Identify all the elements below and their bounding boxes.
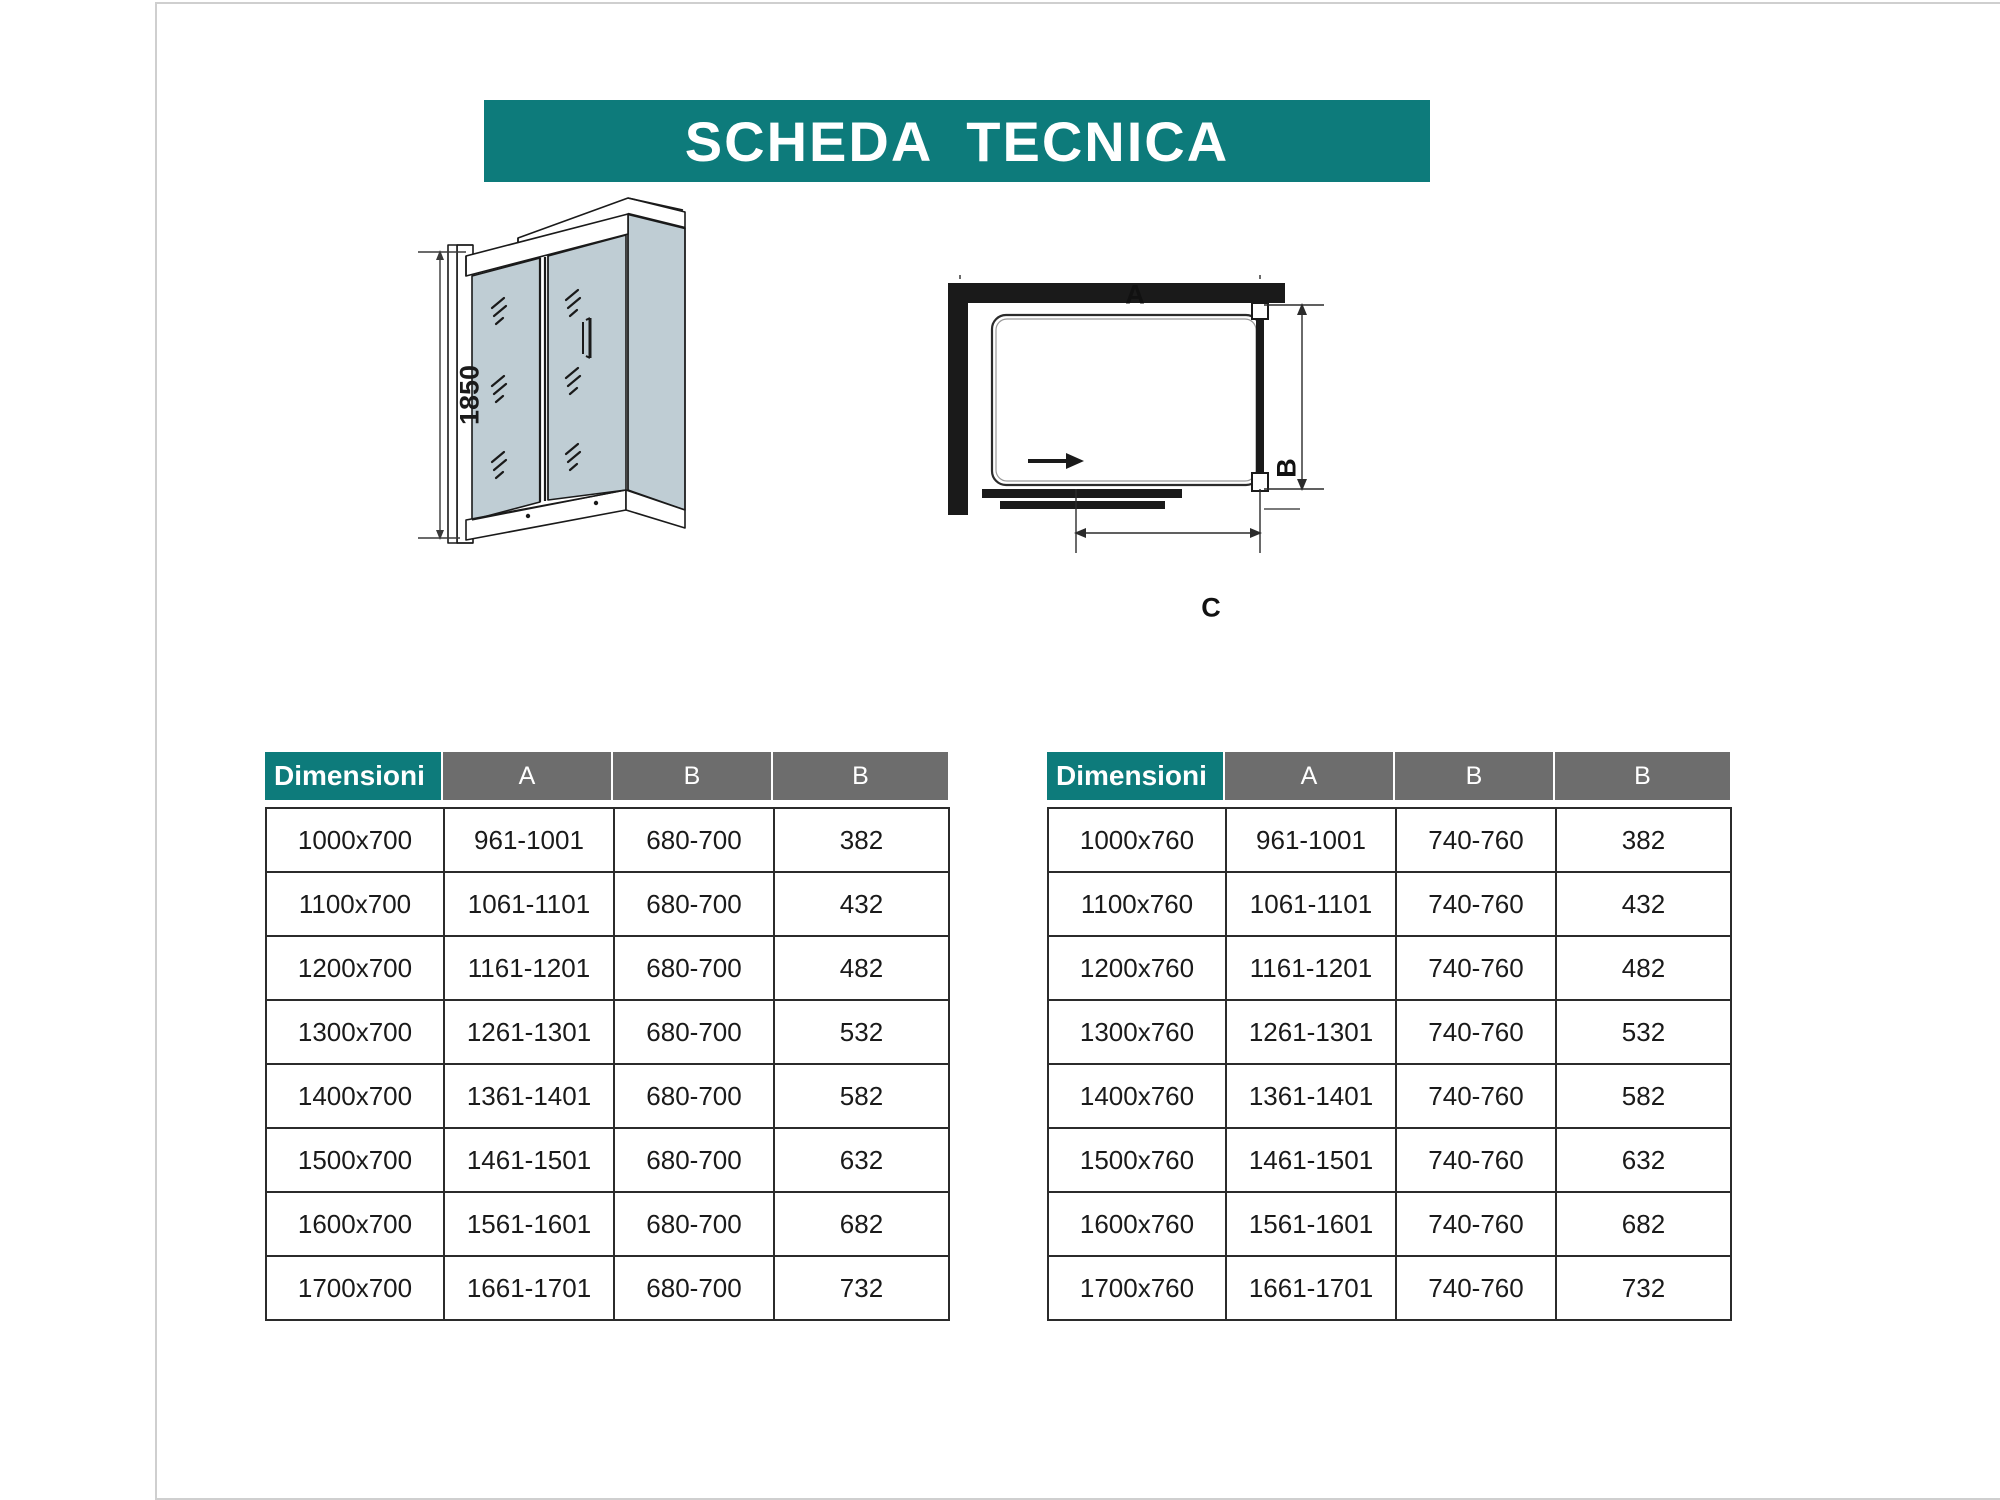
cell-dimension: 1600x760: [1048, 1192, 1226, 1256]
plan-dimension-label-a: A: [1125, 280, 1145, 311]
table-row: 1000x700 961-1001 680-700 382: [266, 808, 949, 872]
cell-b2: 582: [774, 1064, 949, 1128]
table-row: 1500x760 1461-1501 740-760 632: [1048, 1128, 1731, 1192]
cell-dimension: 1500x760: [1048, 1128, 1226, 1192]
cell-b2: 732: [1556, 1256, 1731, 1320]
table-row: 1700x760 1661-1701 740-760 732: [1048, 1256, 1731, 1320]
cell-b1: 680-700: [614, 1256, 774, 1320]
cell-b2: 432: [1556, 872, 1731, 936]
cell-a: 1161-1201: [444, 936, 614, 1000]
cell-b1: 680-700: [614, 1192, 774, 1256]
cell-a: 1061-1101: [1226, 872, 1396, 936]
table-row: 1600x700 1561-1601 680-700 682: [266, 1192, 949, 1256]
header-a: A: [1225, 752, 1395, 800]
cell-b2: 532: [1556, 1000, 1731, 1064]
cell-a: 1261-1301: [1226, 1000, 1396, 1064]
cell-b1: 740-760: [1396, 936, 1556, 1000]
cell-b1: 740-760: [1396, 872, 1556, 936]
table-row: 1400x700 1361-1401 680-700 582: [266, 1064, 949, 1128]
cell-a: 961-1001: [1226, 808, 1396, 872]
header-b1: B: [613, 752, 773, 800]
spec-table-700-body: 1000x700 961-1001 680-700 382 1100x700 1…: [265, 807, 950, 1321]
cell-b1: 740-760: [1396, 1064, 1556, 1128]
cell-a: 1061-1101: [444, 872, 614, 936]
header-b2: B: [1555, 752, 1730, 800]
table-row: 1400x760 1361-1401 740-760 582: [1048, 1064, 1731, 1128]
cell-a: 1561-1601: [1226, 1192, 1396, 1256]
cell-a: 1661-1701: [444, 1256, 614, 1320]
cell-b1: 740-760: [1396, 1256, 1556, 1320]
table-row: 1300x700 1261-1301 680-700 532: [266, 1000, 949, 1064]
cell-b1: 680-700: [614, 1000, 774, 1064]
cell-b2: 382: [774, 808, 949, 872]
cell-dimension: 1700x700: [266, 1256, 444, 1320]
page-title: SCHEDA TECNICA: [685, 109, 1229, 174]
cell-b2: 682: [774, 1192, 949, 1256]
cell-b2: 432: [774, 872, 949, 936]
table-header-row: Dimensioni A B B: [265, 752, 950, 800]
cell-b2: 482: [1556, 936, 1731, 1000]
height-dimension-label: 1850: [455, 365, 486, 425]
cell-b2: 582: [1556, 1064, 1731, 1128]
title-banner: SCHEDA TECNICA: [484, 100, 1430, 182]
cell-dimension: 1300x700: [266, 1000, 444, 1064]
datasheet-page: SCHEDA TECNICA: [0, 0, 2000, 1500]
cell-a: 1161-1201: [1226, 936, 1396, 1000]
cell-b2: 532: [774, 1000, 949, 1064]
cell-b1: 740-760: [1396, 808, 1556, 872]
table-row: 1100x700 1061-1101 680-700 432: [266, 872, 949, 936]
cell-a: 1661-1701: [1226, 1256, 1396, 1320]
cell-b2: 382: [1556, 808, 1731, 872]
cell-a: 1461-1501: [1226, 1128, 1396, 1192]
table-row: 1200x700 1161-1201 680-700 482: [266, 936, 949, 1000]
cell-b2: 732: [774, 1256, 949, 1320]
table-row: 1700x700 1661-1701 680-700 732: [266, 1256, 949, 1320]
header-b2: B: [773, 752, 948, 800]
cell-b2: 482: [774, 936, 949, 1000]
cell-dimension: 1700x760: [1048, 1256, 1226, 1320]
cell-b1: 740-760: [1396, 1128, 1556, 1192]
cell-a: 1361-1401: [444, 1064, 614, 1128]
cell-b1: 740-760: [1396, 1000, 1556, 1064]
cell-dimension: 1100x700: [266, 872, 444, 936]
plan-view-drawing: [940, 275, 1340, 605]
cell-b1: 680-700: [614, 1064, 774, 1128]
cell-dimension: 1200x700: [266, 936, 444, 1000]
cell-b1: 680-700: [614, 936, 774, 1000]
spec-table-700: Dimensioni A B B 1000x700 961-1001 680-7…: [265, 752, 950, 1321]
cell-b2: 682: [1556, 1192, 1731, 1256]
spec-table-760-body: 1000x760 961-1001 740-760 382 1100x760 1…: [1047, 807, 1732, 1321]
plan-view-svg: [940, 275, 1340, 605]
table-row: 1100x760 1061-1101 740-760 432: [1048, 872, 1731, 936]
cell-dimension: 1100x760: [1048, 872, 1226, 936]
table-row: 1500x700 1461-1501 680-700 632: [266, 1128, 949, 1192]
plan-dimension-label-b: B: [1272, 458, 1303, 478]
cell-a: 961-1001: [444, 808, 614, 872]
cell-a: 1561-1601: [444, 1192, 614, 1256]
cell-dimension: 1000x700: [266, 808, 444, 872]
cell-b2: 632: [1556, 1128, 1731, 1192]
plan-dimension-label-c: C: [1201, 593, 1221, 624]
cell-b1: 680-700: [614, 872, 774, 936]
cell-dimension: 1500x700: [266, 1128, 444, 1192]
table-row: 1300x760 1261-1301 740-760 532: [1048, 1000, 1731, 1064]
header-dimensioni: Dimensioni: [265, 752, 443, 800]
cell-dimension: 1600x700: [266, 1192, 444, 1256]
cell-dimension: 1400x760: [1048, 1064, 1226, 1128]
table-row: 1200x760 1161-1201 740-760 482: [1048, 936, 1731, 1000]
cell-dimension: 1400x700: [266, 1064, 444, 1128]
cell-dimension: 1000x760: [1048, 808, 1226, 872]
table-row: 1600x760 1561-1601 740-760 682: [1048, 1192, 1731, 1256]
dimension-a: [958, 275, 1262, 279]
cell-a: 1261-1301: [444, 1000, 614, 1064]
cell-b1: 740-760: [1396, 1192, 1556, 1256]
cell-b2: 632: [774, 1128, 949, 1192]
header-dimensioni: Dimensioni: [1047, 752, 1225, 800]
cell-a: 1361-1401: [1226, 1064, 1396, 1128]
dimension-c: [1074, 489, 1262, 553]
header-a: A: [443, 752, 613, 800]
spec-table-760: Dimensioni A B B 1000x760 961-1001 740-7…: [1047, 752, 1732, 1321]
cell-b1: 680-700: [614, 1128, 774, 1192]
cell-b1: 680-700: [614, 808, 774, 872]
header-b1: B: [1395, 752, 1555, 800]
table-row: 1000x760 961-1001 740-760 382: [1048, 808, 1731, 872]
cell-dimension: 1200x760: [1048, 936, 1226, 1000]
cell-dimension: 1300x760: [1048, 1000, 1226, 1064]
table-header-row: Dimensioni A B B: [1047, 752, 1732, 800]
cell-a: 1461-1501: [444, 1128, 614, 1192]
